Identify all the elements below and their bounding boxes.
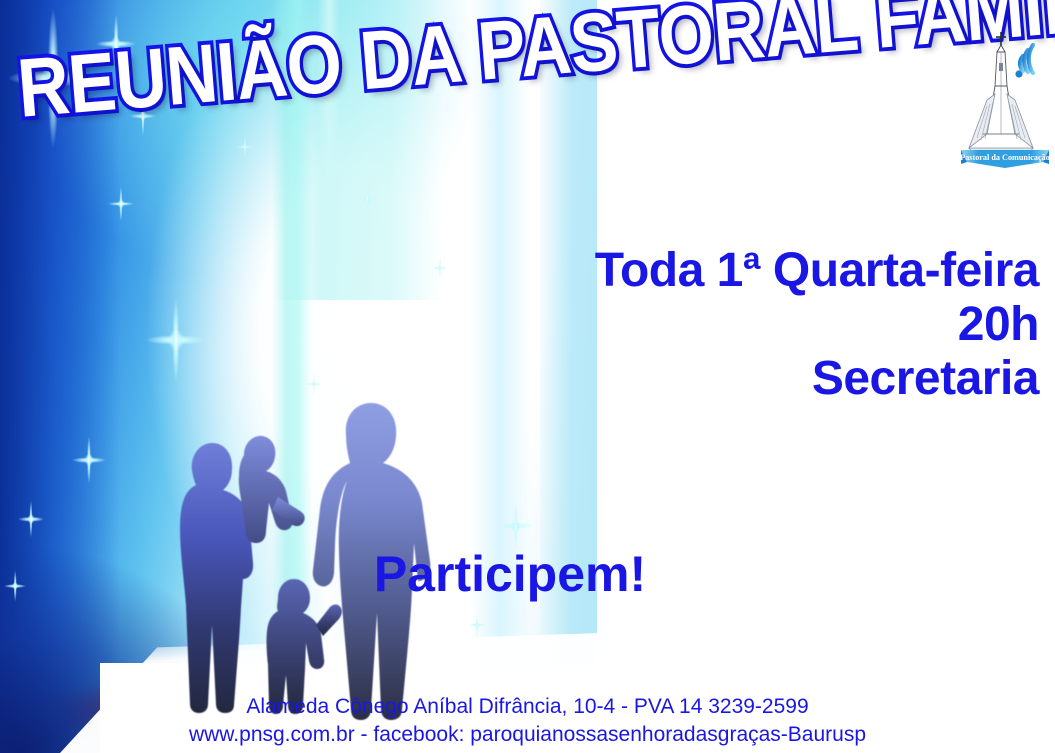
logo-banner: Pastoral da Comunicação [960,150,1050,168]
poster-canvas: REUNIÃO DA PASTORAL FAMILIAR Toda 1ª Qua… [0,0,1055,753]
pastoral-da-comunicacao-logo: Pastoral da Comunicação [957,26,1053,176]
sparkle-star-icon [236,134,254,160]
sparkle-star-icon [146,298,206,382]
logo-banner-text: Pastoral da Comunicação [960,153,1050,162]
event-detail-location: Secretaria [479,352,1039,406]
call-to-action-text: Participem! [0,545,1055,603]
broadcast-waves-icon [1015,45,1033,78]
event-details: Toda 1ª Quarta-feira 20h Secretaria [479,244,1039,407]
church-tower-icon [969,32,1033,154]
footer-address: Alameda Cônego Aníbal Difrância, 10-4 - … [0,693,1055,721]
event-detail-time: 20h [479,298,1039,352]
footer-web-social: www.pnsg.com.br - facebook: paroquianoss… [0,721,1055,749]
event-detail-day: Toda 1ª Quarta-feira [479,244,1039,298]
footer-contact-info: Alameda Cônego Aníbal Difrância, 10-4 - … [0,693,1055,749]
